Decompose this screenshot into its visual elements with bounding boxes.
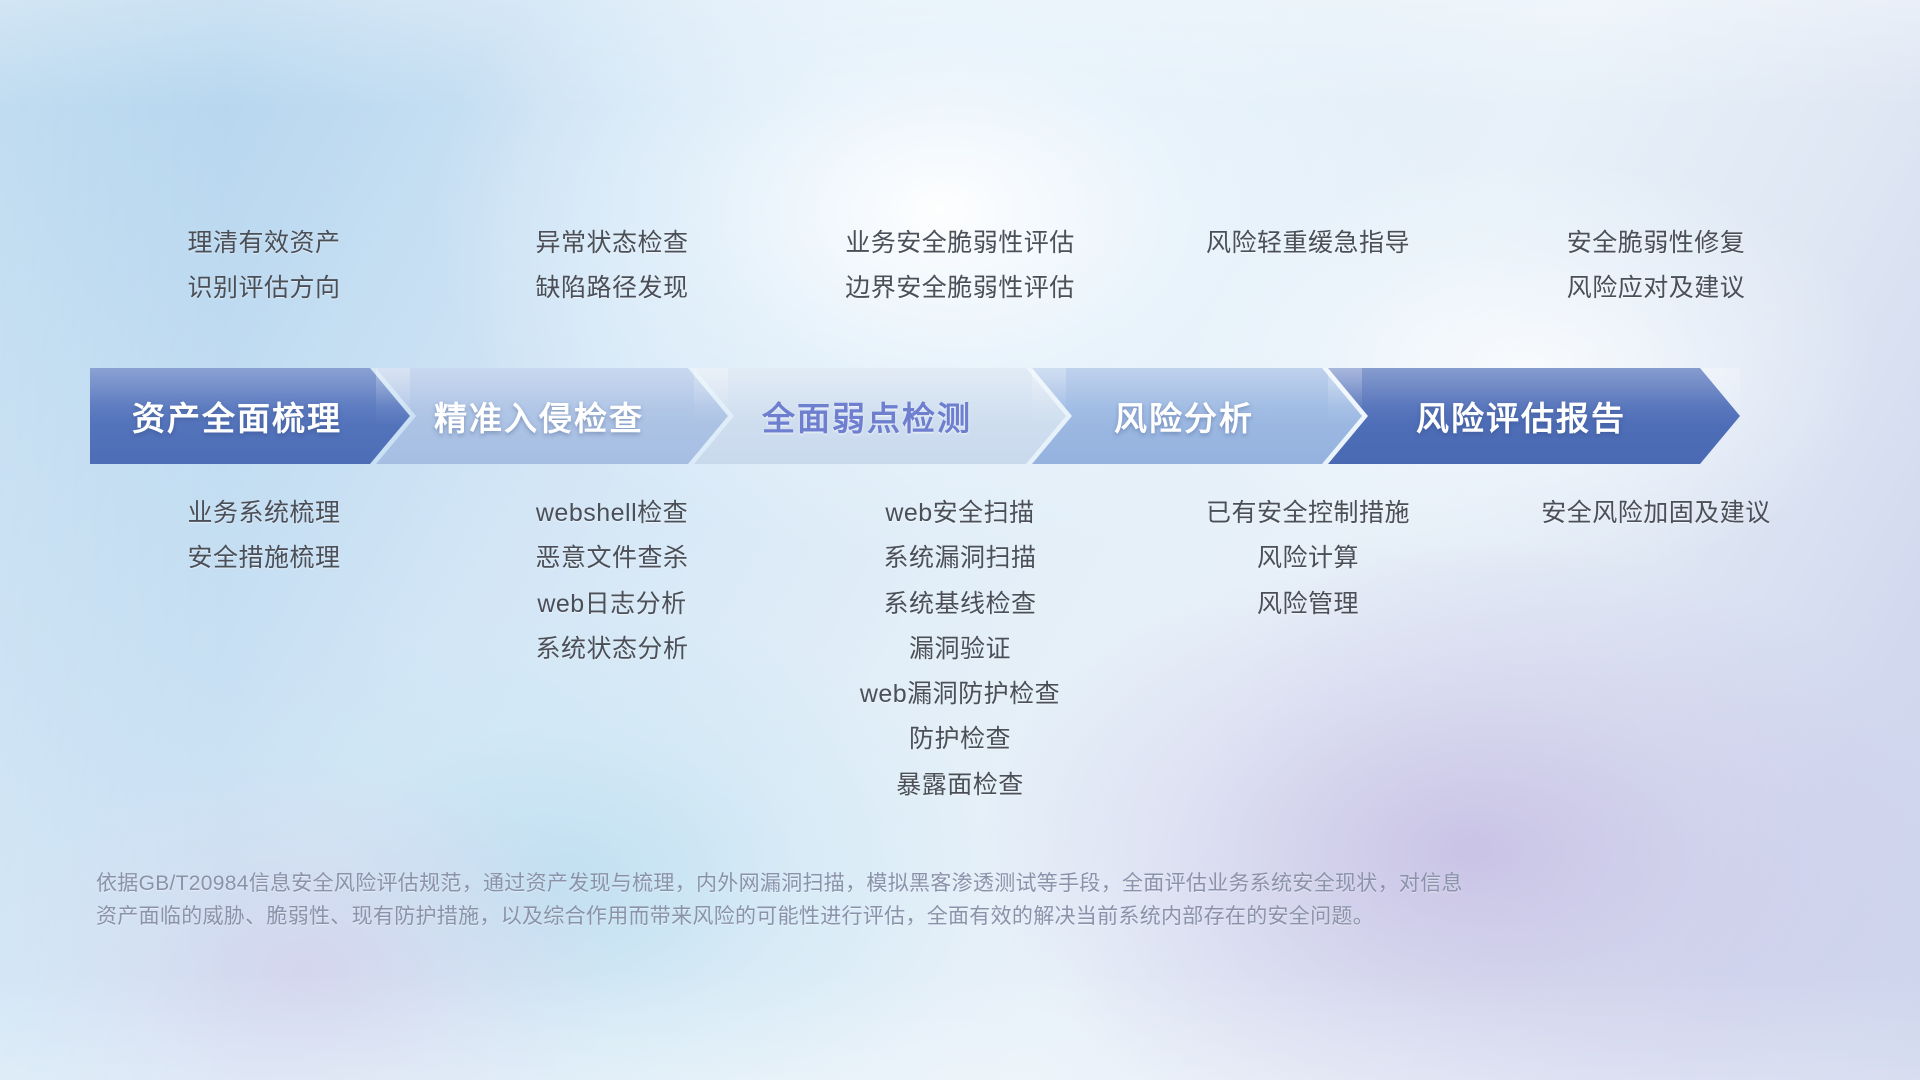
bottom-item: 风险计算: [1257, 543, 1359, 574]
top-items-intrusion-inspection: 异常状态检查 缺陷路径发现: [438, 228, 786, 305]
bottom-item: 安全措施梳理: [187, 543, 340, 574]
top-items-risk-analysis: 风险轻重缓急指导: [1134, 228, 1482, 259]
footer-line: 依据GB/T20984信息安全风险评估规范，通过资产发现与梳理，内外网漏洞扫描，…: [96, 868, 1656, 901]
top-item: 边界安全脆弱性评估: [845, 273, 1075, 304]
top-item: 风险轻重缓急指导: [1206, 228, 1410, 259]
stage-label: 风险评估报告: [1416, 392, 1652, 440]
bottom-items-risk-analysis: 已有安全控制措施 风险计算 风险管理: [1134, 498, 1482, 801]
bottom-items-row: 业务系统梳理 安全措施梳理 webshell检查 恶意文件查杀 web日志分析 …: [90, 498, 1830, 801]
bottom-item: 漏洞验证: [909, 634, 1011, 665]
top-item: 业务安全脆弱性评估: [845, 228, 1075, 259]
bottom-item: 恶意文件查杀: [535, 543, 688, 574]
bottom-item: 系统基线检查: [883, 589, 1036, 620]
footer-description: 依据GB/T20984信息安全风险评估规范，通过资产发现与梳理，内外网漏洞扫描，…: [96, 868, 1656, 933]
bottom-item: web安全扫描: [885, 498, 1034, 529]
top-item: 风险应对及建议: [1567, 273, 1746, 304]
bottom-items-risk-report: 安全风险加固及建议: [1482, 498, 1830, 801]
top-item: 缺陷路径发现: [535, 273, 688, 304]
top-item: 理清有效资产: [187, 228, 340, 259]
stage-label: 全面弱点检测: [762, 392, 998, 440]
top-items-asset-inventory: 理清有效资产 识别评估方向: [90, 228, 438, 305]
stage-label: 风险分析: [1114, 392, 1280, 440]
bottom-item: 安全风险加固及建议: [1541, 498, 1771, 529]
top-item: 安全脆弱性修复: [1567, 228, 1746, 259]
stage-arrow-weakness-detection[interactable]: 全面弱点检测: [694, 368, 1066, 464]
bottom-items-asset-inventory: 业务系统梳理 安全措施梳理: [90, 498, 438, 801]
stage-label: 资产全面梳理: [132, 392, 368, 440]
bottom-item: web日志分析: [537, 589, 686, 620]
bottom-item: 风险管理: [1257, 589, 1359, 620]
bottom-items-intrusion-inspection: webshell检查 恶意文件查杀 web日志分析 系统状态分析: [438, 498, 786, 801]
bottom-item: 系统状态分析: [535, 634, 688, 665]
bottom-item: web漏洞防护检查: [860, 679, 1060, 710]
bottom-item: 防护检查: [909, 724, 1011, 755]
top-items-weakness-detection: 业务安全脆弱性评估 边界安全脆弱性评估: [786, 228, 1134, 305]
bottom-item: 系统漏洞扫描: [883, 543, 1036, 574]
bottom-item: webshell检查: [536, 498, 688, 529]
footer-line: 资产面临的威胁、脆弱性、现有防护措施，以及综合作用而带来风险的可能性进行评估，全…: [96, 901, 1656, 934]
bottom-items-weakness-detection: web安全扫描 系统漏洞扫描 系统基线检查 漏洞验证 web漏洞防护检查 防护检…: [786, 498, 1134, 801]
stage-label: 精准入侵检查: [434, 392, 670, 440]
bottom-item: 暴露面检查: [896, 770, 1024, 801]
stage-arrow-risk-analysis[interactable]: 风险分析: [1032, 368, 1362, 464]
stage-arrow-intrusion-inspection[interactable]: 精准入侵检查: [376, 368, 728, 464]
stage-arrow-asset-inventory[interactable]: 资产全面梳理: [90, 368, 410, 464]
top-item: 识别评估方向: [187, 273, 340, 304]
top-item: 异常状态检查: [535, 228, 688, 259]
bottom-item: 业务系统梳理: [187, 498, 340, 529]
stage-arrow-risk-report[interactable]: 风险评估报告: [1328, 368, 1740, 464]
diagram-canvas: 理清有效资产 识别评估方向 异常状态检查 缺陷路径发现 业务安全脆弱性评估 边界…: [0, 0, 1920, 1080]
top-items-row: 理清有效资产 识别评估方向 异常状态检查 缺陷路径发现 业务安全脆弱性评估 边界…: [90, 228, 1830, 305]
top-items-risk-report: 安全脆弱性修复 风险应对及建议: [1482, 228, 1830, 305]
process-arrow-band: 资产全面梳理 精准入侵检查 全面弱点检测 风险分析 风险评估报告: [90, 368, 1842, 464]
bottom-item: 已有安全控制措施: [1206, 498, 1410, 529]
